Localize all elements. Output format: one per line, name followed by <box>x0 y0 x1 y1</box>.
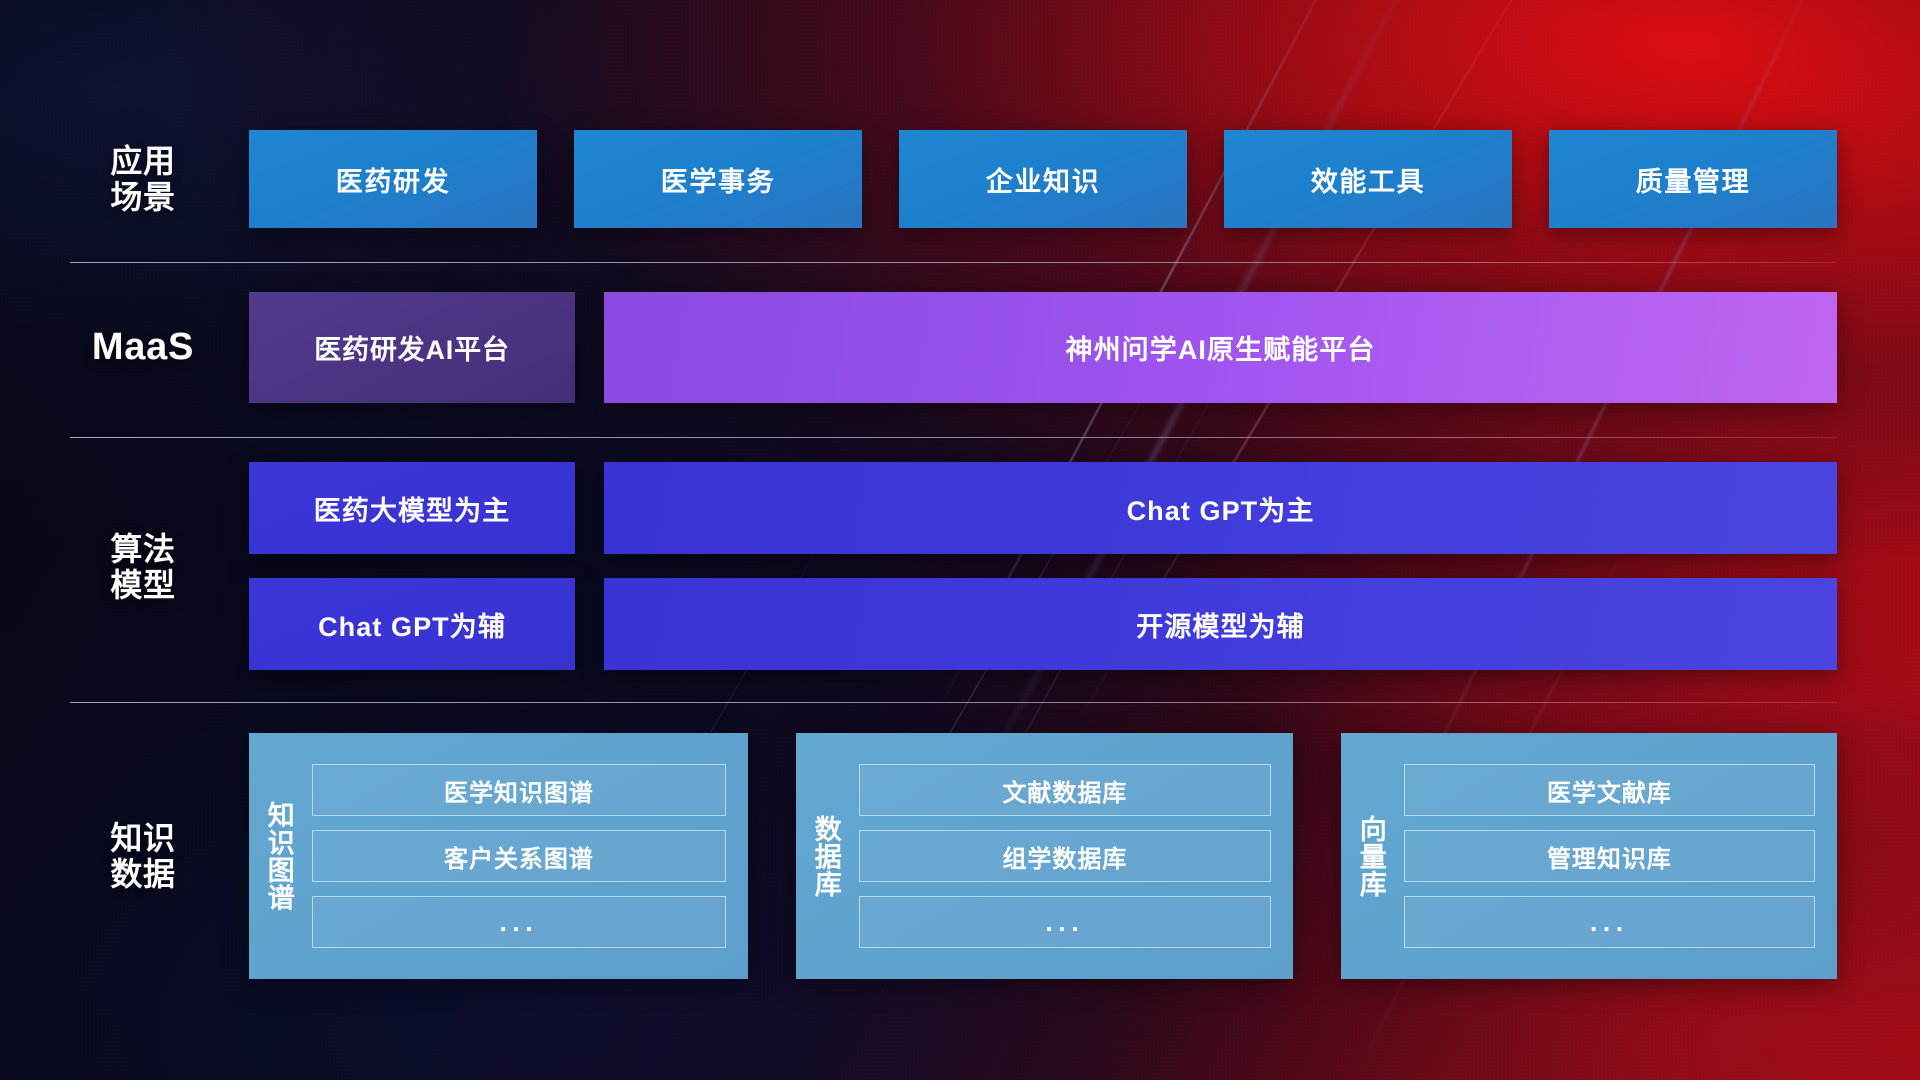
knowledge-item-medical-knowledge-graph[interactable]: 医学知识图谱 <box>312 764 726 816</box>
knowledge-item-more[interactable]: ... <box>859 896 1271 948</box>
knowledge-panel-item-list: 医学知识图谱 客户关系图谱 ... <box>308 733 748 979</box>
row-algorithm-model: 算法 模型 医药大模型为主 Chat GPT为主 Chat GPT为辅 开源模型… <box>0 462 1920 672</box>
knowledge-panel-title: 向量库 <box>1341 733 1400 979</box>
knowledge-item-omics-database[interactable]: 组学数据库 <box>859 830 1271 882</box>
row-knowledge-data: 知识 数据 知识图谱 医学知识图谱 客户关系图谱 ... 数据库 文献数据库 组… <box>0 733 1920 979</box>
knowledge-item-more[interactable]: ... <box>312 896 726 948</box>
divider-maas-algorithm <box>70 437 1837 438</box>
row-application-scenario: 应用 场景 医药研发 医学事务 企业知识 效能工具 质量管理 <box>0 130 1920 228</box>
algo-box-medicine-large-model-primary[interactable]: 医药大模型为主 <box>249 462 575 554</box>
architecture-diagram: 应用 场景 医药研发 医学事务 企业知识 效能工具 质量管理 MaaS 医药研发… <box>0 0 1920 1080</box>
app-box-efficiency-tools[interactable]: 效能工具 <box>1224 130 1512 228</box>
knowledge-panel-vector-store[interactable]: 向量库 医学文献库 管理知识库 ... <box>1341 733 1837 979</box>
knowledge-item-management-knowledge-store[interactable]: 管理知识库 <box>1404 830 1815 882</box>
row-maas: MaaS 医药研发AI平台 神州问学AI原生赋能平台 <box>0 292 1920 403</box>
divider-algorithm-knowledge <box>70 702 1837 703</box>
algo-box-chatgpt-secondary[interactable]: Chat GPT为辅 <box>249 578 575 670</box>
app-box-quality-management[interactable]: 质量管理 <box>1549 130 1837 228</box>
knowledge-panel-title: 数据库 <box>796 733 855 979</box>
row-label-application-scenario: 应用 场景 <box>78 130 208 228</box>
row-label-maas: MaaS <box>68 292 218 403</box>
knowledge-panel-title: 知识图谱 <box>249 733 308 979</box>
maas-box-medicine-ai-platform[interactable]: 医药研发AI平台 <box>249 292 575 403</box>
knowledge-item-customer-relation-graph[interactable]: 客户关系图谱 <box>312 830 726 882</box>
knowledge-panel-database[interactable]: 数据库 文献数据库 组学数据库 ... <box>796 733 1293 979</box>
divider-application-maas <box>70 262 1837 263</box>
knowledge-item-more[interactable]: ... <box>1404 896 1815 948</box>
knowledge-panel-knowledge-graph[interactable]: 知识图谱 医学知识图谱 客户关系图谱 ... <box>249 733 748 979</box>
knowledge-item-medical-literature-store[interactable]: 医学文献库 <box>1404 764 1815 816</box>
knowledge-item-literature-database[interactable]: 文献数据库 <box>859 764 1271 816</box>
row-label-algorithm-model: 算法 模型 <box>78 462 208 672</box>
maas-box-shenzhou-wenxue-platform[interactable]: 神州问学AI原生赋能平台 <box>604 292 1837 403</box>
app-box-enterprise-knowledge[interactable]: 企业知识 <box>899 130 1187 228</box>
row-label-knowledge-data: 知识 数据 <box>78 733 208 979</box>
algo-box-chatgpt-primary[interactable]: Chat GPT为主 <box>604 462 1837 554</box>
algo-box-opensource-model-secondary[interactable]: 开源模型为辅 <box>604 578 1837 670</box>
app-box-medical-affairs[interactable]: 医学事务 <box>574 130 862 228</box>
knowledge-panel-item-list: 医学文献库 管理知识库 ... <box>1400 733 1837 979</box>
app-box-medicine-rd[interactable]: 医药研发 <box>249 130 537 228</box>
knowledge-panel-item-list: 文献数据库 组学数据库 ... <box>855 733 1293 979</box>
